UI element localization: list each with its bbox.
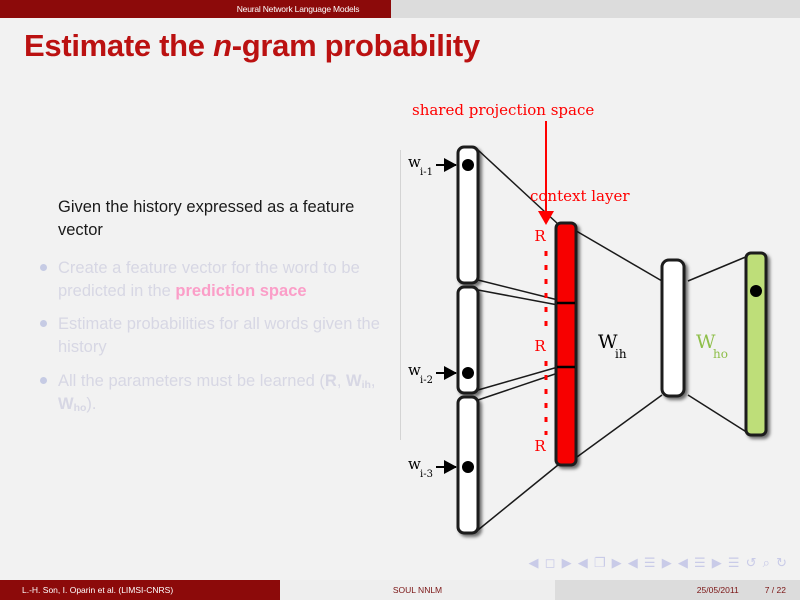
bullet-list: Create a feature vector for the word to … — [40, 257, 395, 416]
input-label-w-i-1-sub: i-1 — [420, 167, 433, 178]
output-layer-bar — [746, 253, 766, 435]
list-item: Create a feature vector for the word to … — [40, 257, 395, 303]
page-title-before: Estimate the — [24, 28, 213, 63]
bullet-3-text-after: ). — [86, 395, 96, 413]
projection-label-r-3: R — [534, 437, 546, 455]
weight-label-wih-sub: ih — [615, 347, 627, 361]
footer-date: 25/05/2011 — [697, 585, 739, 595]
input-layer-bars — [458, 147, 478, 533]
topbar-active-tab-label: Neural Network Language Models — [237, 4, 360, 14]
input-active-dot-w-i-2 — [462, 367, 474, 379]
projection-label-r-1: R — [534, 227, 546, 245]
output-active-dot — [750, 285, 762, 297]
output-layer-group — [746, 253, 766, 435]
shared-projection-space-label: shared projection space — [412, 101, 594, 119]
footer-title-section: SOUL NNLM — [280, 580, 555, 600]
neural-network-diagram: w i-1 w i-2 w i-3 shared projection spac… — [400, 95, 800, 565]
footer-meta-section: 25/05/2011 7 / 22 — [555, 580, 800, 600]
footer-short-title: SOUL NNLM — [393, 585, 442, 595]
page-title: Estimate the n-gram probability — [24, 28, 480, 64]
topbar-segment-inactive-left[interactable] — [0, 0, 205, 18]
top-navigation-bar: Neural Network Language Models — [0, 0, 800, 18]
bullet-1-highlight: prediction space — [175, 282, 306, 300]
page-title-after: -gram probability — [232, 28, 480, 63]
bullet-3-math-w2: W — [58, 395, 74, 413]
list-item: All the parameters must be learned (R, W… — [40, 370, 395, 416]
projection-label-r-2: R — [534, 337, 546, 355]
page-title-italic-n: n — [213, 28, 232, 63]
content-text-column: Given the history expressed as a feature… — [40, 196, 395, 426]
bullet-2-text: Estimate probabilities for all words giv… — [58, 315, 380, 356]
footer-bar: L.-H. Son, I. Oparin et al. (LIMSI-CNRS)… — [0, 580, 800, 600]
input-active-dot-w-i-1 — [462, 159, 474, 171]
context-layer-label: context layer — [530, 187, 630, 205]
bullet-3-sep-2: , — [371, 372, 376, 390]
bullet-3-math-r: R — [325, 372, 337, 390]
bullet-3-math-w1: W — [346, 372, 362, 390]
context-layer-bar — [556, 223, 576, 465]
list-item: Estimate probabilities for all words giv… — [40, 313, 395, 359]
hidden-layer-group — [662, 260, 684, 396]
beamer-navigation-symbols[interactable]: ◀ ◻ ▶ ◀ ❐ ▶ ◀ ☰ ▶ ◀ ☰ ▶ ☰ ↺ ⌕ ↻ — [529, 556, 788, 571]
footer-author-label: L.-H. Son, I. Oparin et al. (LIMSI-CNRS) — [22, 585, 173, 595]
bullet-3-text: All the parameters must be learned ( — [58, 372, 325, 390]
bullet-dot-icon — [40, 377, 47, 384]
input-label-w-i-3-sub: i-3 — [420, 469, 433, 480]
bullet-3-sep-1: , — [337, 372, 346, 390]
footer-page-number: 7 / 22 — [765, 585, 786, 595]
topbar-segment-remainder — [391, 0, 800, 18]
bullet-dot-icon — [40, 264, 47, 271]
input-active-dot-w-i-3 — [462, 461, 474, 473]
projection-r-chain: R R R — [534, 227, 546, 455]
bullet-dot-icon — [40, 320, 47, 327]
bullet-3-math-w1-sub: ih — [362, 379, 371, 391]
footer-author-section: L.-H. Son, I. Oparin et al. (LIMSI-CNRS) — [0, 580, 280, 600]
input-word-labels: w i-1 w i-2 w i-3 — [408, 153, 456, 480]
topbar-segment-active[interactable]: Neural Network Language Models — [205, 0, 392, 18]
input-label-w-i-2-sub: i-2 — [420, 375, 433, 386]
bullet-3-math-w2-sub: ho — [74, 402, 87, 414]
lead-paragraph: Given the history expressed as a feature… — [58, 196, 395, 243]
hidden-layer-bar — [662, 260, 684, 396]
weight-label-who-sub: ho — [713, 347, 728, 361]
